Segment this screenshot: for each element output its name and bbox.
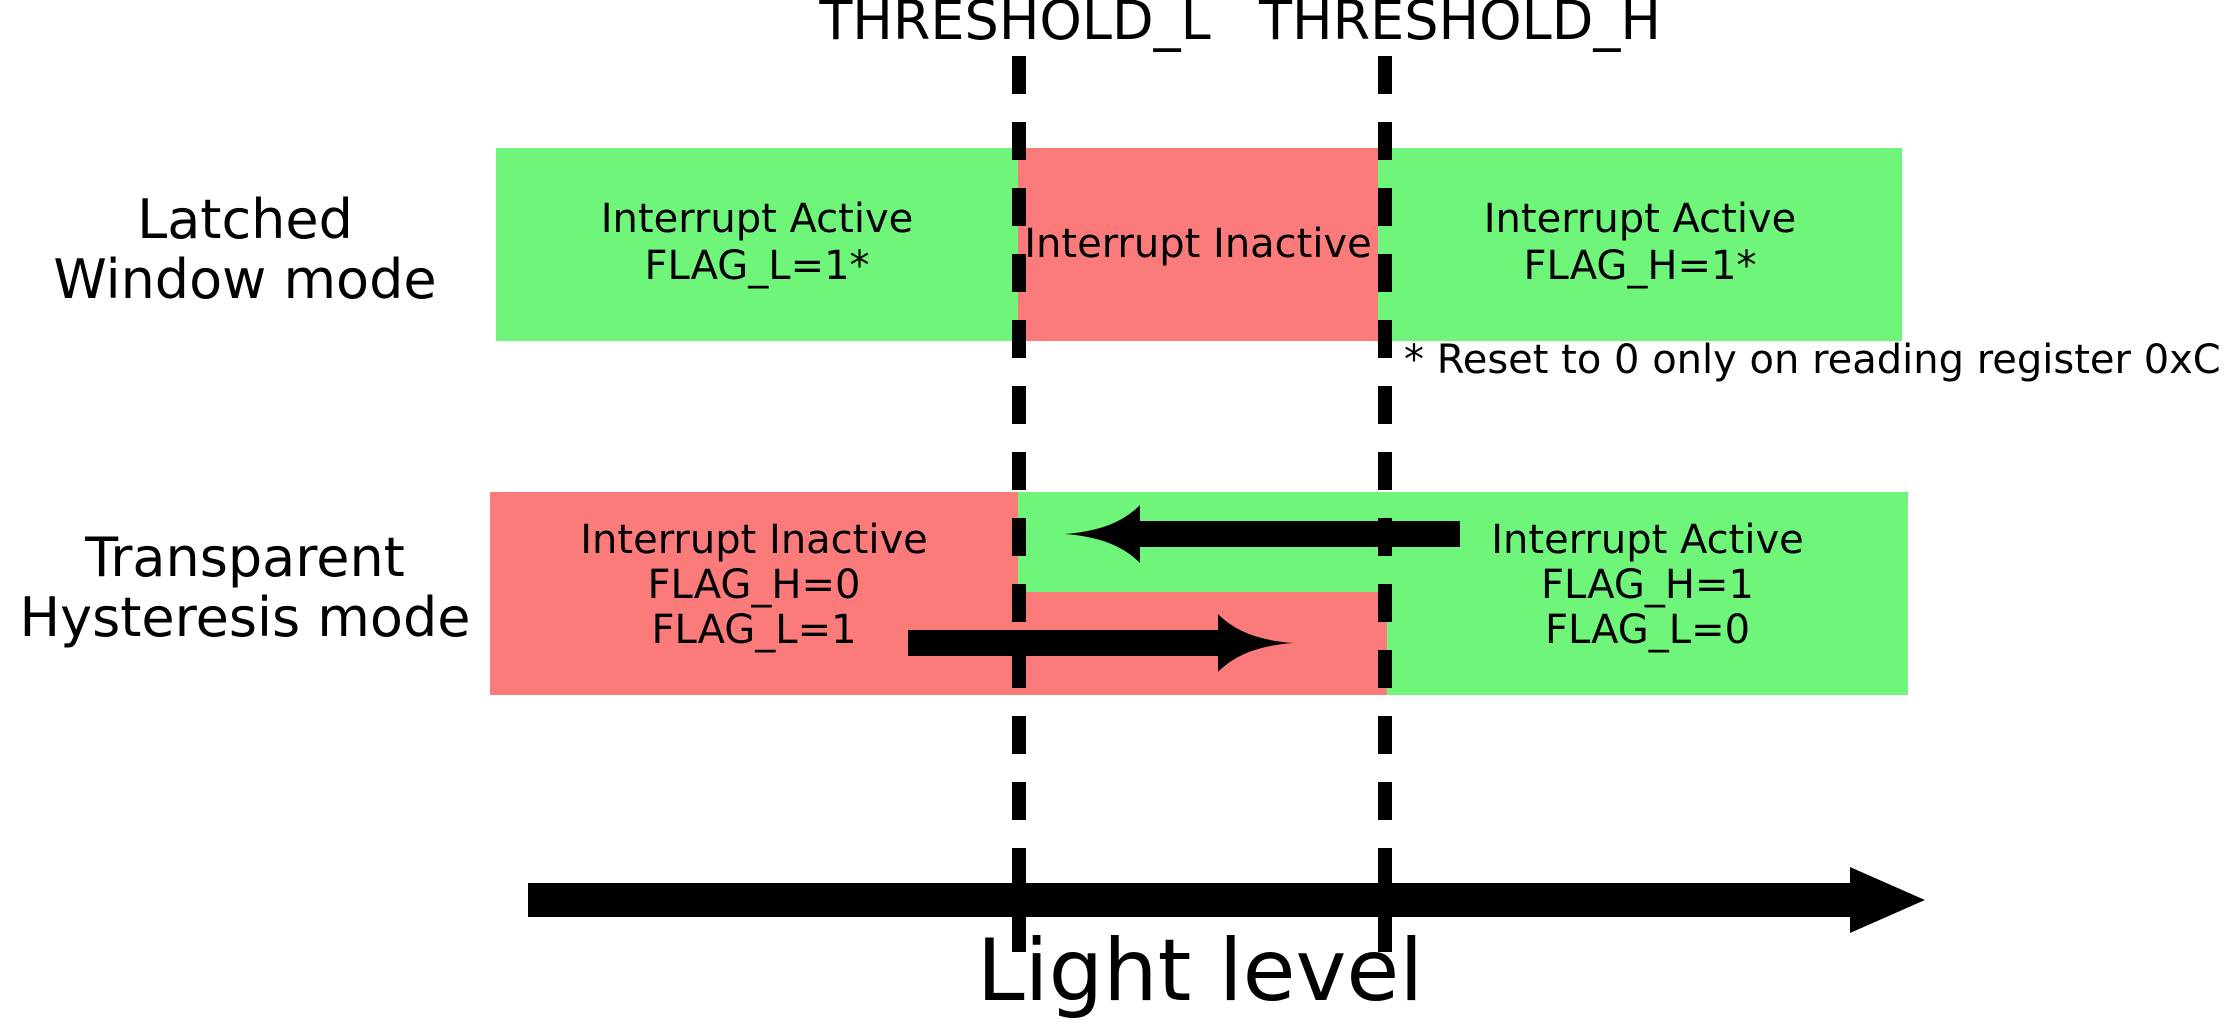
row2-below-low-line-1: Interrupt Inactive — [490, 518, 1018, 563]
interrupt-threshold-diagram: THRESHOLD_L THRESHOLD_H Latched Window m… — [0, 0, 2236, 1034]
row1-below-low-line-2: FLAG_L=1* — [496, 243, 1018, 290]
falling-light-arrow — [1060, 505, 1460, 563]
row1-above-high-line-1: Interrupt Active — [1378, 196, 1902, 243]
row1-text-between: Interrupt Inactive — [1018, 221, 1378, 268]
row2-above-high-line-1: Interrupt Active — [1387, 518, 1908, 563]
rising-light-arrow — [908, 614, 1298, 672]
row2-above-high-line-2: FLAG_H=1 — [1387, 563, 1908, 608]
row2-above-high-line-3: FLAG_L=0 — [1387, 608, 1908, 653]
threshold-h-dashed-line — [1378, 56, 1392, 956]
row1-below-low-line-1: Interrupt Active — [496, 196, 1018, 243]
threshold-l-dashed-line — [1012, 56, 1026, 956]
row1-text-above-high: Interrupt Active FLAG_H=1* — [1378, 196, 1902, 290]
row-label-transparent-hysteresis-mode: Transparent Hysteresis mode — [0, 528, 490, 649]
row1-text-below-low: Interrupt Active FLAG_L=1* — [496, 196, 1018, 290]
row1-above-high-line-2: FLAG_H=1* — [1378, 243, 1902, 290]
row1-between-line-1: Interrupt Inactive — [1018, 221, 1378, 268]
row-label-line-2: Hysteresis mode — [0, 588, 490, 648]
row-label-latched-window-mode: Latched Window mode — [20, 190, 470, 311]
threshold-h-label: THRESHOLD_H — [1150, 0, 1770, 48]
row-label-line-1: Transparent — [0, 528, 490, 588]
row-label-line-2: Window mode — [20, 250, 470, 310]
row2-text-above-high: Interrupt Active FLAG_H=1 FLAG_L=0 — [1387, 518, 1908, 652]
footnote-reset-note: * Reset to 0 only on reading register 0x… — [1404, 340, 2221, 380]
row2-below-low-line-2: FLAG_H=0 — [490, 563, 1018, 608]
row-label-line-1: Latched — [20, 190, 470, 250]
light-level-axis — [520, 855, 1940, 945]
